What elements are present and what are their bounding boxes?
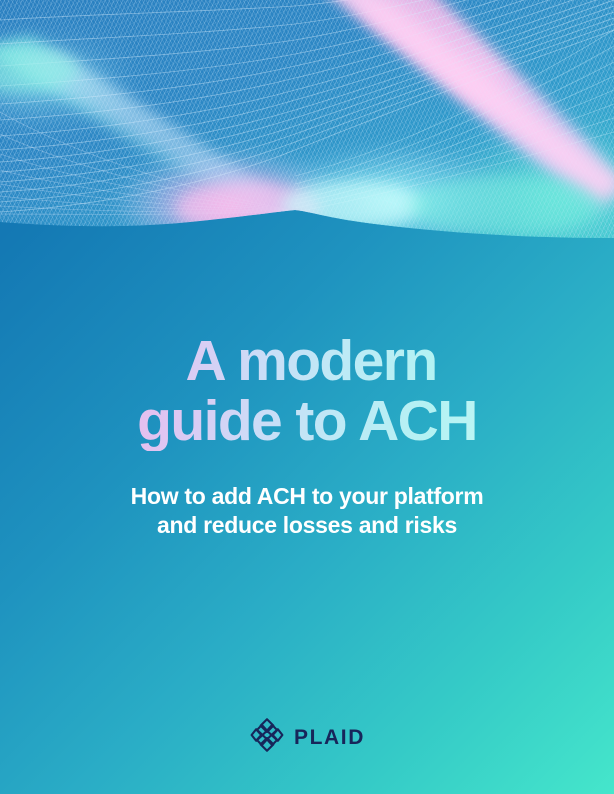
plaid-knot-logo-icon xyxy=(249,715,285,760)
cover-title: A modern guide to ACH xyxy=(0,331,614,451)
subtitle-line-2: and reduce losses and risks xyxy=(0,511,614,540)
plaid-logo: PLAID xyxy=(0,715,614,760)
title-line-2: guide to ACH xyxy=(0,391,614,451)
ebook-cover-page: A modern guide to ACH How to add ACH to … xyxy=(0,0,614,794)
cover-subtitle: How to add ACH to your platform and redu… xyxy=(0,482,614,540)
subtitle-line-1: How to add ACH to your platform xyxy=(0,482,614,511)
title-line-1: A modern xyxy=(0,331,614,391)
plaid-wordmark: PLAID xyxy=(294,727,365,748)
wave-line-art-graphic xyxy=(0,0,614,250)
